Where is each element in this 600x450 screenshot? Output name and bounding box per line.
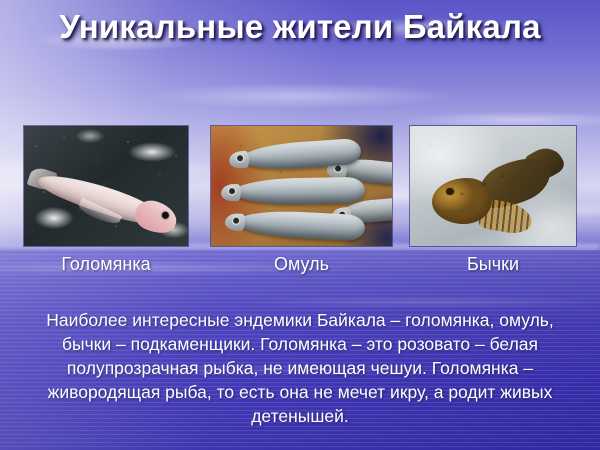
caption-golomyanka: Голомянка <box>24 253 188 275</box>
caption-bychki: Бычки <box>410 253 576 275</box>
photo-bychki <box>410 126 576 246</box>
photo-bychki-background <box>410 126 576 246</box>
sculpin-fish-illustration <box>432 144 562 234</box>
body-paragraph: Наиболее интересные эндемики Байкала – г… <box>30 308 570 428</box>
photo-omul-background <box>211 126 392 246</box>
caption-omul: Омуль <box>211 253 392 275</box>
presentation-slide: Уникальные жители Байкала <box>0 0 600 450</box>
page-title: Уникальные жители Байкала <box>0 8 600 46</box>
photo-golomyanka <box>24 126 188 246</box>
photo-golomyanka-background <box>24 126 188 246</box>
fish-eye <box>446 188 454 195</box>
photo-omul <box>211 126 392 246</box>
